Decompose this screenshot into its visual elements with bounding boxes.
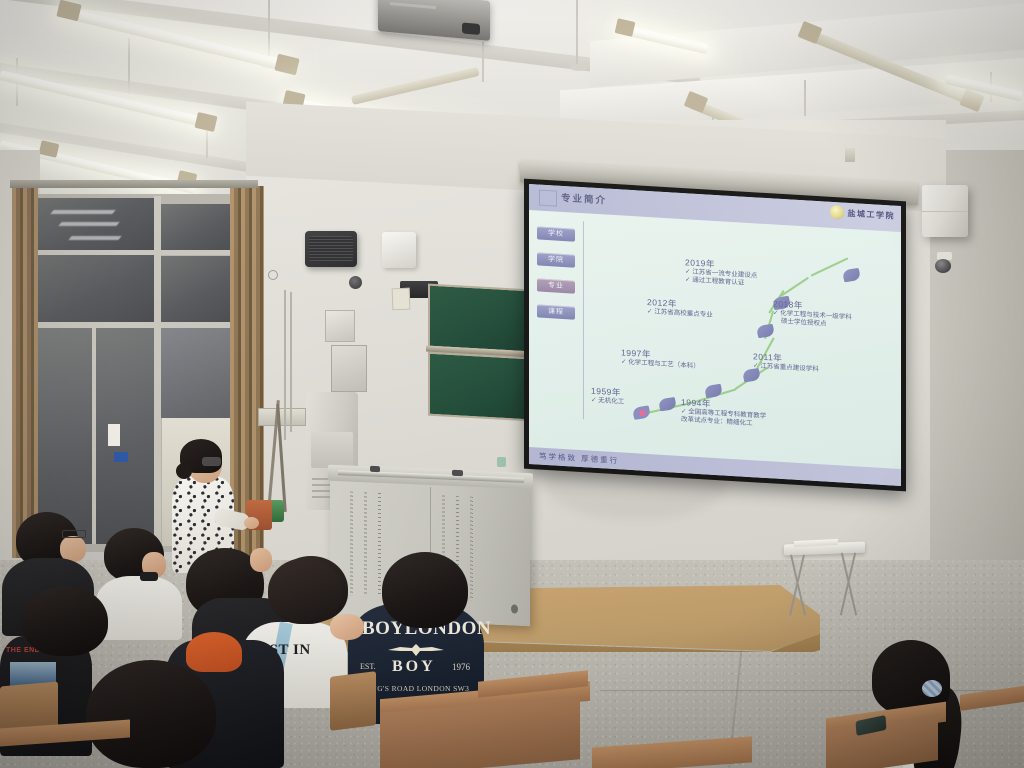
slide-slogan: 笃学格致 厚德重行 — [539, 451, 619, 467]
timeline-node-2019 — [842, 268, 861, 282]
timeline-label-1994: 1994年 ✓ 全国高等工程专科教育教学 改革试点专业：精细化工 — [681, 397, 766, 429]
curtain-cord — [290, 292, 292, 432]
chair-back — [330, 671, 376, 731]
timeline-node-1959 — [632, 405, 651, 419]
cabinet-latch[interactable] — [370, 466, 380, 472]
chalk-piece — [497, 457, 506, 467]
shirt-est-text: EST. — [360, 662, 376, 671]
security-camera-icon — [934, 252, 954, 274]
timeline-label-2011: 2011年 ✓ 江苏省重点建设学科 — [753, 351, 819, 374]
curtain-left[interactable] — [12, 186, 38, 558]
wall-box-left — [258, 408, 306, 426]
timeline-node-2012 — [756, 324, 775, 338]
slide-nav-college[interactable]: 学院 — [537, 252, 575, 267]
curtain-cord — [284, 290, 286, 440]
door-notice — [108, 424, 120, 446]
student-head — [268, 558, 342, 624]
slide-title-box — [539, 190, 557, 207]
timeline-node-1994 — [658, 397, 677, 411]
cabinet-latch[interactable] — [452, 470, 463, 476]
curtain-rail — [10, 180, 258, 188]
cabinet-lock-icon[interactable] — [511, 604, 518, 613]
shirt-year-text: 1976 — [452, 662, 470, 672]
timeline-label-1959: 1959年 ✓ 无机化工 — [591, 386, 624, 407]
eyeglasses-icon — [202, 457, 221, 466]
slide-nav-course[interactable]: 课程 — [537, 304, 575, 319]
student-head — [382, 552, 468, 628]
timeline-label-1997: 1997年 ✓ 化学工程与工艺（本科） — [621, 347, 700, 370]
shirt-boy-text: BOY — [392, 658, 436, 676]
hair-scrunchie — [922, 680, 942, 697]
timeline-label-2018: 2018年 ✓ 化学工程与技术一级学科 硕士学位授权点 — [773, 298, 852, 330]
slide-nav-major[interactable]: 专业 — [537, 278, 575, 293]
student-face — [250, 548, 272, 572]
slide-divider — [583, 221, 584, 419]
student-torso — [96, 576, 182, 640]
slide-side-nav: 学校 学院 专业 课程 — [537, 226, 577, 332]
wall-hook — [268, 270, 278, 280]
wall-air-conditioner — [922, 185, 968, 237]
institution-logo: 盐城工学院 — [830, 205, 896, 223]
wall-switch[interactable] — [845, 148, 855, 162]
slide-nav-school[interactable]: 学校 — [537, 226, 575, 241]
institution-name: 盐城工学院 — [848, 207, 896, 221]
motion-sensor-icon — [349, 276, 362, 289]
door-sticker — [114, 452, 128, 462]
student-head — [86, 660, 216, 768]
wristwatch-icon — [140, 572, 158, 581]
presentation-slide: 专业简介 盐城工学院 学校 学院 专业 课程 — [529, 184, 901, 486]
eyeglasses-icon — [62, 530, 86, 538]
timeline-label-2012: 2012年 ✓ 江苏省高校重点专业 — [647, 297, 713, 320]
wall-equipment-box — [382, 232, 416, 268]
timeline-node-1997 — [704, 384, 723, 398]
timeline-label-2019: 2019年 ✓ 江苏省一流专业建设点 ✓ 通过工程教育认证 — [685, 257, 757, 288]
classroom-photo: 专业简介 盐城工学院 学校 学院 专业 课程 — [0, 0, 1024, 768]
student-head — [22, 586, 108, 656]
student-hand — [330, 614, 364, 640]
wall-control-box — [325, 310, 355, 342]
wall-paper-note — [392, 288, 411, 311]
slide-title: 专业简介 — [561, 190, 607, 207]
eagle-icon — [384, 642, 448, 658]
seal-icon — [830, 205, 844, 220]
wall-speaker — [305, 231, 357, 267]
projection-screen: 专业简介 盐城工学院 学校 学院 专业 课程 — [524, 179, 906, 492]
wall-distribution-box — [331, 345, 367, 392]
